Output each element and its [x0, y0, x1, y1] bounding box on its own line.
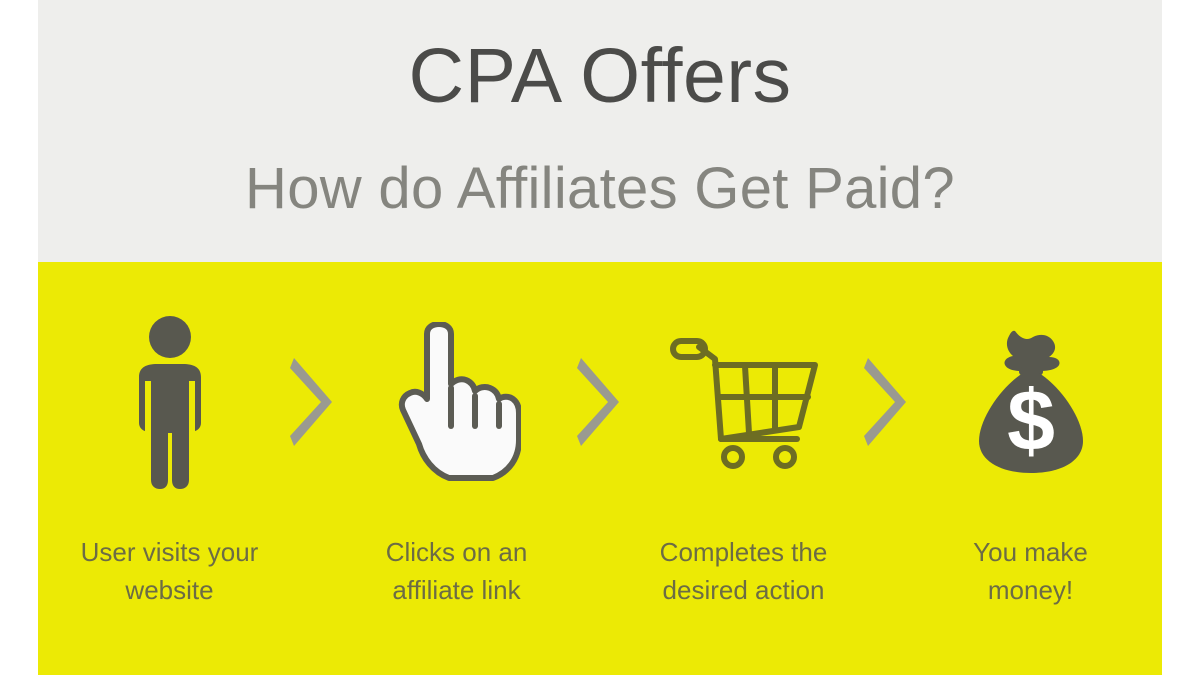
caption-line: You make — [927, 534, 1134, 572]
caption-line: money! — [927, 572, 1134, 610]
infographic-canvas: CPA Offers How do Affiliates Get Paid? — [0, 0, 1200, 675]
pointing-hand-cursor-icon — [393, 322, 521, 482]
caption-line: User visits your — [66, 534, 273, 572]
flow-step-1-caption: User visits your website — [62, 534, 277, 609]
flow-band: $ User visits your website Clicks on an … — [38, 262, 1162, 675]
shopping-cart-icon — [669, 335, 819, 470]
money-bag-icon: $ — [971, 327, 1091, 477]
flow-step-3-icon — [636, 287, 851, 517]
content-column: CPA Offers How do Affiliates Get Paid? — [38, 0, 1162, 675]
caption-line: Completes the — [640, 534, 847, 572]
chevron-right-icon — [575, 356, 625, 448]
flow-separator-3 — [851, 287, 923, 517]
flow-step-2-caption: Clicks on an affiliate link — [349, 534, 564, 609]
caption-line: affiliate link — [353, 572, 560, 610]
caption-line: desired action — [640, 572, 847, 610]
svg-text:$: $ — [1007, 373, 1055, 469]
page-subtitle: How do Affiliates Get Paid? — [38, 160, 1162, 218]
page-title: CPA Offers — [38, 38, 1162, 115]
chevron-right-icon — [862, 356, 912, 448]
flow-step-3-caption: Completes the desired action — [636, 534, 851, 609]
flow-step-4-caption: You make money! — [923, 534, 1138, 609]
caption-line: Clicks on an — [353, 534, 560, 572]
flow-separator-1 — [277, 287, 349, 517]
caption-line: website — [66, 572, 273, 610]
flow-separator-2 — [564, 287, 636, 517]
flow-step-4-icon: $ — [923, 287, 1138, 517]
chevron-right-icon — [288, 356, 338, 448]
flow-step-1-icon — [62, 287, 277, 517]
person-icon — [115, 315, 225, 490]
flow-icons-row: $ — [38, 262, 1162, 542]
flow-captions-row: User visits your website Clicks on an af… — [38, 534, 1162, 609]
header-band: CPA Offers How do Affiliates Get Paid? — [38, 0, 1162, 262]
flow-step-2-icon — [349, 287, 564, 517]
